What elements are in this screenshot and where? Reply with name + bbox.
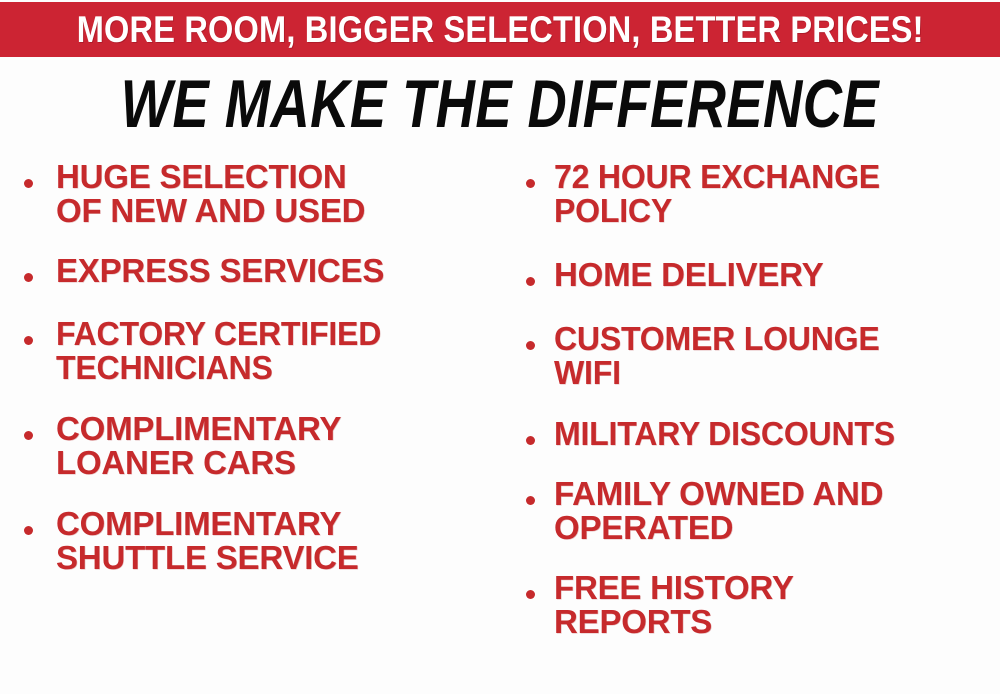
list-item: HOME DELIVERY — [518, 258, 1000, 292]
bullet-dot-icon — [526, 496, 535, 505]
list-item: EXPRESS SERVICES — [18, 254, 510, 288]
promo-poster: MORE ROOM, BIGGER SELECTION, BETTER PRIC… — [0, 0, 1000, 694]
bullet-dot-icon — [526, 436, 535, 445]
bullet-dot-icon — [24, 179, 33, 188]
top-banner: MORE ROOM, BIGGER SELECTION, BETTER PRIC… — [0, 2, 1000, 57]
list-item-label: 72 HOUR EXCHANGE POLICY — [554, 160, 880, 228]
benefits-column-right: 72 HOUR EXCHANGE POLICY HOME DELIVERY CU… — [518, 160, 1000, 639]
bullet-dot-icon — [526, 341, 535, 350]
bullet-dot-icon — [24, 336, 33, 345]
list-item-label: CUSTOMER LOUNGE WIFI — [554, 322, 880, 390]
list-item-label: EXPRESS SERVICES — [56, 254, 510, 288]
benefits-column-left: HUGE SELECTION OF NEW AND USED EXPRESS S… — [18, 160, 510, 575]
list-item-label: MILITARY DISCOUNTS — [554, 417, 895, 451]
list-item: FREE HISTORY REPORTS — [518, 571, 1000, 639]
bullet-dot-icon — [526, 277, 535, 286]
list-item: CUSTOMER LOUNGE WIFI — [518, 322, 1000, 390]
list-item-label: HUGE SELECTION OF NEW AND USED — [56, 160, 510, 228]
list-item: FACTORY CERTIFIED TECHNICIANS — [18, 317, 510, 385]
bullet-dot-icon — [24, 431, 33, 440]
list-item-label: COMPLIMENTARY SHUTTLE SERVICE — [56, 507, 510, 575]
bullet-dot-icon — [24, 526, 33, 535]
list-item: COMPLIMENTARY SHUTTLE SERVICE — [18, 507, 510, 575]
list-item-label: FREE HISTORY REPORTS — [554, 571, 1000, 639]
bullet-dot-icon — [526, 590, 535, 599]
headline-container: WE MAKE THE DIFFERENCE — [0, 70, 1000, 138]
banner-headline-text: MORE ROOM, BIGGER SELECTION, BETTER PRIC… — [77, 11, 924, 48]
list-item-label: FACTORY CERTIFIED TECHNICIANS — [56, 317, 381, 385]
list-item-label: COMPLIMENTARY LOANER CARS — [56, 412, 510, 480]
list-item: COMPLIMENTARY LOANER CARS — [18, 412, 510, 480]
list-item-label: HOME DELIVERY — [554, 258, 1000, 292]
list-item: FAMILY OWNED AND OPERATED — [518, 477, 1000, 545]
benefits-columns: HUGE SELECTION OF NEW AND USED EXPRESS S… — [0, 160, 1000, 694]
page-title: WE MAKE THE DIFFERENCE — [121, 70, 879, 138]
list-item: HUGE SELECTION OF NEW AND USED — [18, 160, 510, 228]
list-item: MILITARY DISCOUNTS — [518, 417, 1000, 451]
list-item: 72 HOUR EXCHANGE POLICY — [518, 160, 1000, 228]
bullet-dot-icon — [526, 179, 535, 188]
list-item-label: FAMILY OWNED AND OPERATED — [554, 477, 1000, 545]
bullet-dot-icon — [24, 273, 33, 282]
